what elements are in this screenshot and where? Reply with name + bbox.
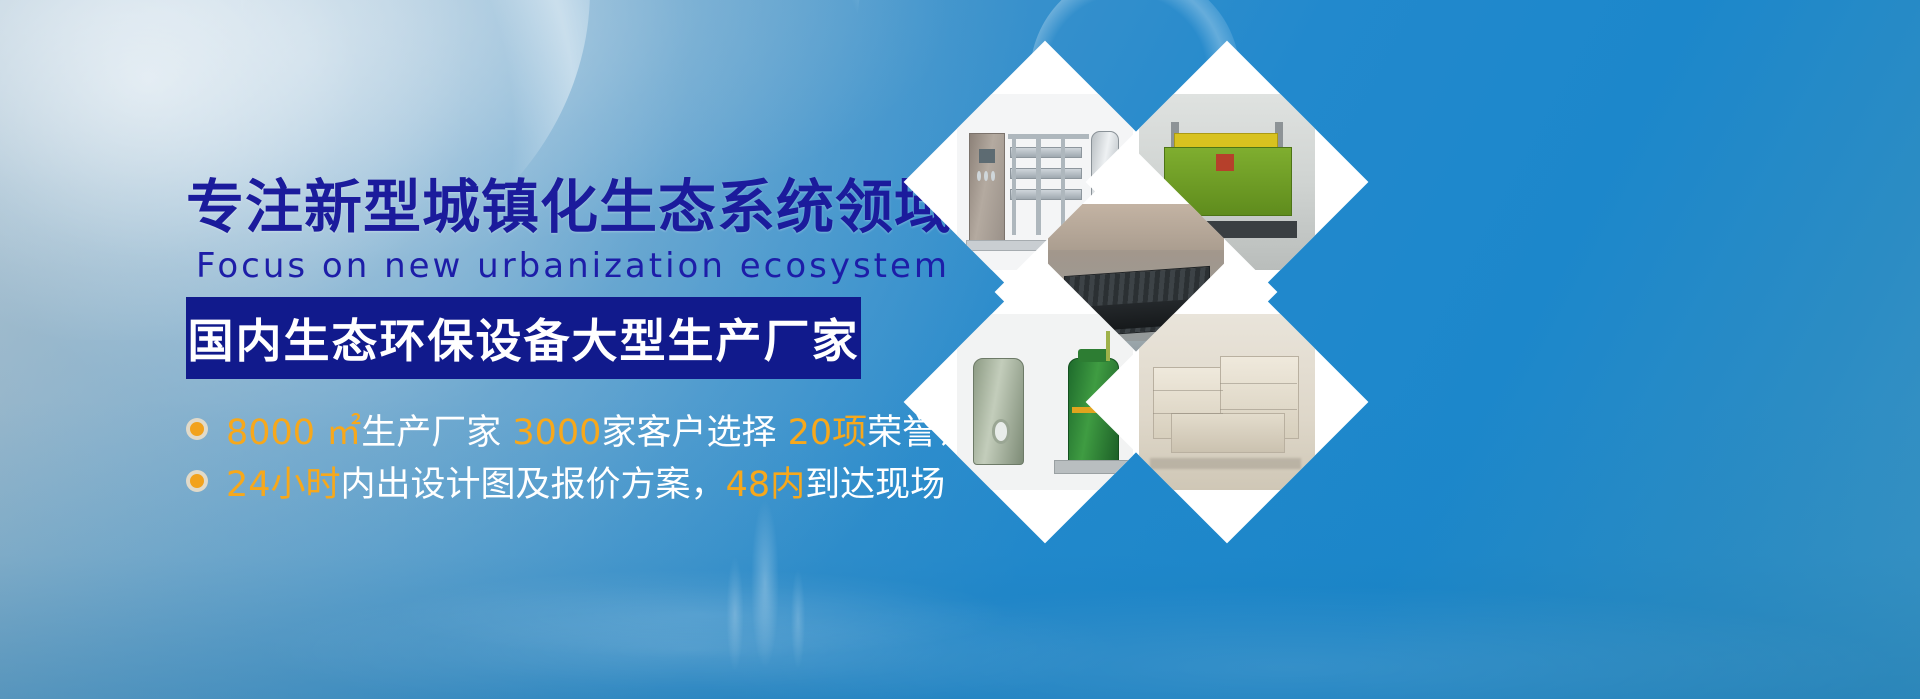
- bullet-segment: ㎡: [326, 413, 361, 453]
- bullet-segment: 生产厂家: [361, 413, 512, 453]
- bullet-text: 8000 ㎡生产厂家 3000家客户选择 20项荣誉证书: [226, 404, 1007, 455]
- bullet-text: 24小时内出设计图及报价方案，48内到达现场: [226, 456, 945, 507]
- stacked-aac-blocks-image: [1139, 314, 1315, 490]
- bullet-dot-icon: [186, 418, 208, 440]
- product-diamond-gallery: [905, 40, 1335, 500]
- bullet-segment: 20: [788, 413, 833, 453]
- bullet-segment: 8000: [226, 413, 326, 453]
- list-item: 8000 ㎡生产厂家 3000家客户选择 20项荣誉证书: [186, 403, 1007, 455]
- banner-headline: 专注新型城镇化生态系统领域: [186, 178, 953, 236]
- bullet-segment: 项: [832, 413, 867, 453]
- banner-bullet-list: 8000 ㎡生产厂家 3000家客户选择 20项荣誉证书 24小时内出设计图及报…: [186, 403, 1007, 507]
- banner-badge: 国内生态环保设备大型生产厂家: [186, 297, 861, 379]
- banner-badge-text: 国内生态环保设备大型生产厂家: [188, 305, 860, 371]
- bullet-segment: 家客户选择: [601, 413, 787, 453]
- list-item: 24小时内出设计图及报价方案，48内到达现场: [186, 455, 1007, 507]
- hero-banner: 专注新型城镇化生态系统领域 Focus on new urbanization …: [0, 0, 1920, 699]
- banner-copy: 专注新型城镇化生态系统领域 Focus on new urbanization …: [0, 0, 920, 699]
- bullet-segment: 48内: [726, 465, 806, 505]
- bullet-segment: 24小时: [226, 465, 341, 505]
- bullet-dot-icon: [186, 470, 208, 492]
- bullet-segment: 3000: [512, 413, 601, 453]
- bullet-segment: 内出设计图及报价方案，: [341, 465, 726, 505]
- banner-subheadline: Focus on new urbanization ecosystem: [196, 249, 950, 283]
